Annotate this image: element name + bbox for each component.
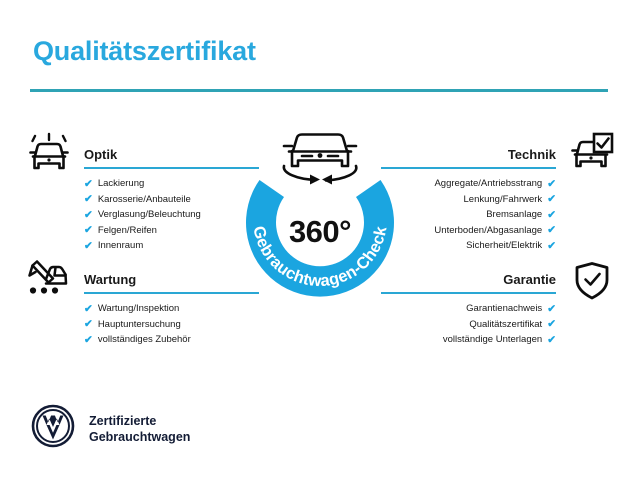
section-wartung: Wartung ✔ Wartung/Inspektion ✔ Hauptunte… xyxy=(84,272,259,348)
section-technik-items: Aggregate/Antriebsstrang ✔ Lenkung/Fahrw… xyxy=(381,176,556,254)
list-item: Unterboden/Abgasanlage ✔ xyxy=(381,223,556,239)
check-icon: ✔ xyxy=(84,225,93,236)
list-item: ✔ vollständiges Zubehör xyxy=(84,332,259,348)
section-wartung-heading: Wartung xyxy=(84,272,259,288)
list-item: Sicherheit/Elektrik ✔ xyxy=(381,238,556,254)
section-optik-divider xyxy=(84,167,259,169)
list-item: Garantienachweis ✔ xyxy=(381,301,556,317)
list-item-label: Innenraum xyxy=(98,238,143,254)
list-item-label: Garantienachweis xyxy=(466,301,542,317)
list-item-label: Lenkung/Fahrwerk xyxy=(464,192,543,208)
volkswagen-logo xyxy=(31,404,75,453)
section-garantie: Garantie Garantienachweis ✔ Qualitätszer… xyxy=(381,272,556,348)
section-optik-items: ✔ Lackierung ✔ Karosserie/Anbauteile ✔ V… xyxy=(84,176,259,254)
check-icon: ✔ xyxy=(547,225,556,236)
check-icon: ✔ xyxy=(547,319,556,330)
check-icon: ✔ xyxy=(84,319,93,330)
footer-line-1: Zertifizierte xyxy=(89,414,156,428)
check-icon: ✔ xyxy=(547,194,556,205)
check-icon: ✔ xyxy=(84,304,93,315)
list-item-label: Sicherheit/Elektrik xyxy=(466,238,542,254)
section-technik-divider xyxy=(381,167,556,169)
check-icon: ✔ xyxy=(547,241,556,252)
check-icon: ✔ xyxy=(84,241,93,252)
list-item-label: Bremsanlage xyxy=(486,207,542,223)
check-icon: ✔ xyxy=(84,210,93,221)
list-item-label: vollständiges Zubehör xyxy=(98,332,191,348)
section-optik: Optik ✔ Lackierung ✔ Karosserie/Anbautei… xyxy=(84,147,259,254)
list-item: ✔ Hauptuntersuchung xyxy=(84,317,259,333)
car-checkbox-icon xyxy=(569,132,615,179)
list-item-label: Qualitätszertifikat xyxy=(469,317,542,333)
list-item: Bremsanlage ✔ xyxy=(381,207,556,223)
check-icon: ✔ xyxy=(547,179,556,190)
list-item-label: Wartung/Inspektion xyxy=(98,301,180,317)
footer-line-2: Gebrauchtwagen xyxy=(89,430,190,444)
gebrauchtwagen-check-badge: Gebrauchtwagen-Check xyxy=(236,118,404,303)
page-title: Qualitätszertifikat xyxy=(33,36,256,67)
list-item: ✔ Lackierung xyxy=(84,176,259,192)
list-item-label: Lackierung xyxy=(98,176,144,192)
section-garantie-items: Garantienachweis ✔ Qualitätszertifikat ✔… xyxy=(381,301,556,348)
list-item-label: Verglasung/Beleuchtung xyxy=(98,207,201,223)
car-shine-icon xyxy=(26,132,72,179)
list-item: ✔ Felgen/Reifen xyxy=(84,223,259,239)
check-icon: ✔ xyxy=(547,335,556,346)
list-item-label: Aggregate/Antriebsstrang xyxy=(434,176,542,192)
list-item: Aggregate/Antriebsstrang ✔ xyxy=(381,176,556,192)
section-technik: Technik Aggregate/Antriebsstrang ✔ Lenku… xyxy=(381,147,556,254)
car-rotate-360-icon xyxy=(284,135,356,185)
footer-branding: Zertifizierte Gebrauchtwagen xyxy=(31,404,190,453)
list-item: Lenkung/Fahrwerk ✔ xyxy=(381,192,556,208)
section-garantie-heading: Garantie xyxy=(381,272,556,288)
check-icon: ✔ xyxy=(84,335,93,346)
list-item-label: Felgen/Reifen xyxy=(98,223,157,239)
section-wartung-items: ✔ Wartung/Inspektion ✔ Hauptuntersuchung… xyxy=(84,301,259,348)
list-item: Qualitätszertifikat ✔ xyxy=(381,317,556,333)
title-divider xyxy=(30,89,608,92)
shield-check-icon xyxy=(572,260,612,307)
footer-text: Zertifizierte Gebrauchtwagen xyxy=(89,413,190,445)
check-icon: ✔ xyxy=(84,194,93,205)
qualitaetszertifikat-page: Qualitätszertifikat Optik ✔ L xyxy=(0,0,640,480)
car-service-pen-icon xyxy=(26,257,72,304)
section-technik-heading: Technik xyxy=(381,147,556,163)
list-item-label: Hauptuntersuchung xyxy=(98,317,181,333)
list-item: vollständige Unterlagen ✔ xyxy=(381,332,556,348)
section-garantie-divider xyxy=(381,292,556,294)
list-item: ✔ Innenraum xyxy=(84,238,259,254)
section-optik-heading: Optik xyxy=(84,147,259,163)
list-item-label: vollständige Unterlagen xyxy=(443,332,542,348)
list-item-label: Unterboden/Abgasanlage xyxy=(434,223,542,239)
check-icon: ✔ xyxy=(84,179,93,190)
list-item: ✔ Verglasung/Beleuchtung xyxy=(84,207,259,223)
check-icon: ✔ xyxy=(547,304,556,315)
check-icon: ✔ xyxy=(547,210,556,221)
list-item: ✔ Wartung/Inspektion xyxy=(84,301,259,317)
section-wartung-divider xyxy=(84,292,259,294)
list-item-label: Karosserie/Anbauteile xyxy=(98,192,191,208)
badge-center-label: 360° xyxy=(236,214,404,250)
list-item: ✔ Karosserie/Anbauteile xyxy=(84,192,259,208)
